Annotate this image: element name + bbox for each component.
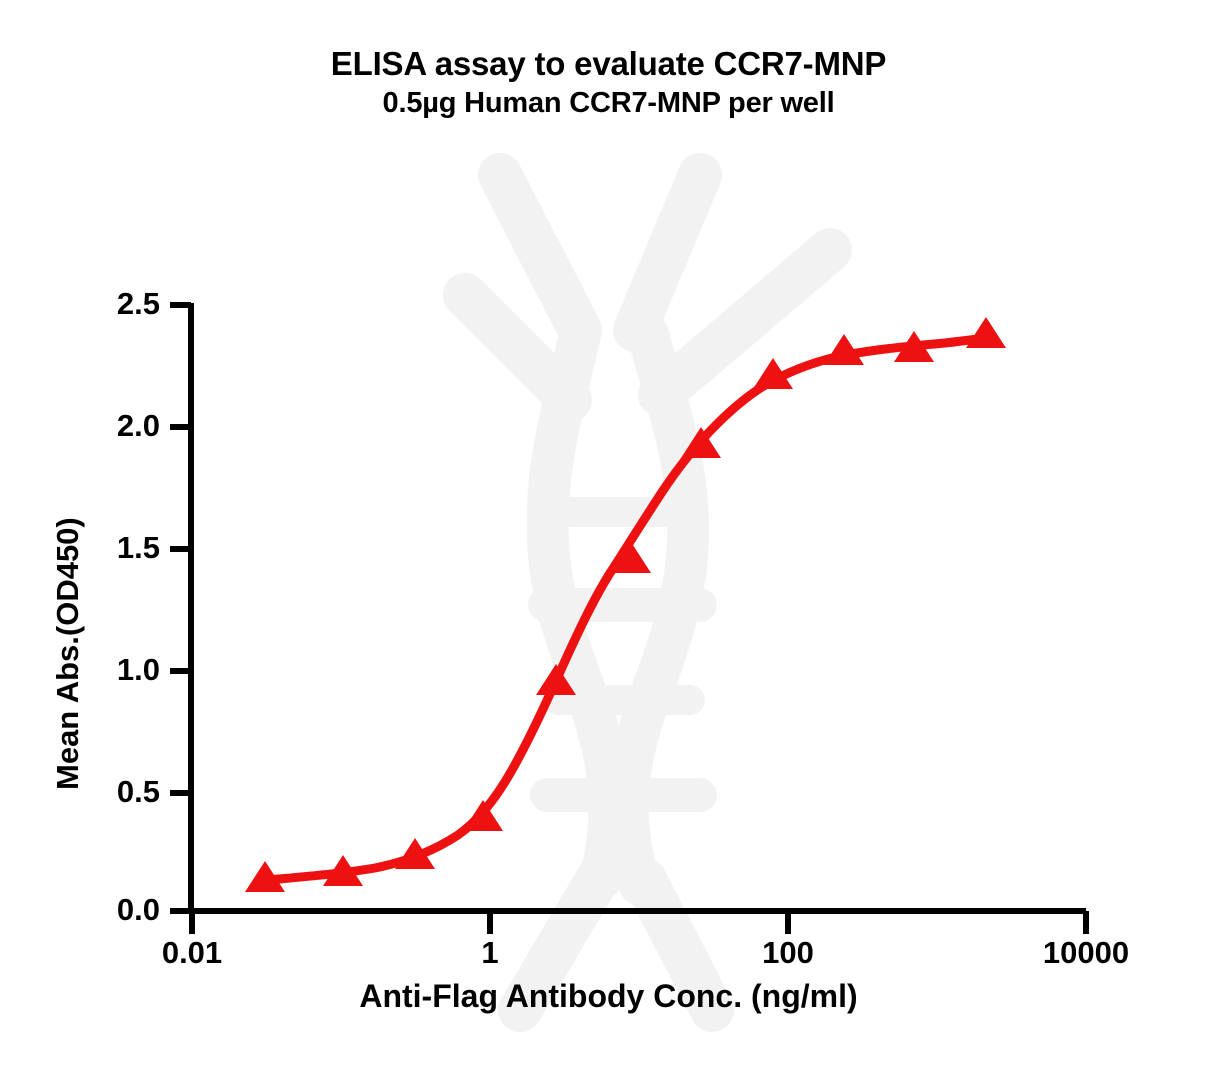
elisa-chart-figure: ELISA assay to evaluate CCR7-MNP 0.5µg H… xyxy=(0,0,1217,1075)
data-point xyxy=(463,800,503,831)
x-axis-title: Anti-Flag Antibody Conc. (ng/ml) xyxy=(0,978,1217,1015)
dna-helix-watermark xyxy=(465,175,830,1010)
y-tick-label: 2.0 xyxy=(70,408,160,444)
x-tick-label: 10000 xyxy=(1006,935,1166,971)
y-axis xyxy=(170,303,191,913)
x-axis xyxy=(188,911,1086,934)
x-tick-label: 100 xyxy=(708,935,868,971)
y-tick-label: 2.5 xyxy=(70,286,160,322)
y-tick-label: 0.0 xyxy=(70,892,160,928)
x-tick-label: 1 xyxy=(410,935,570,971)
x-tick-label: 0.01 xyxy=(112,935,272,971)
plot-area: 2.5 2.0 1.5 1.0 0.5 0.0 0.01 1 100 10000… xyxy=(0,0,1217,1075)
y-axis-title: Mean Abs.(OD450) xyxy=(50,517,86,790)
data-point xyxy=(966,317,1006,348)
plot-canvas xyxy=(0,0,1217,1075)
